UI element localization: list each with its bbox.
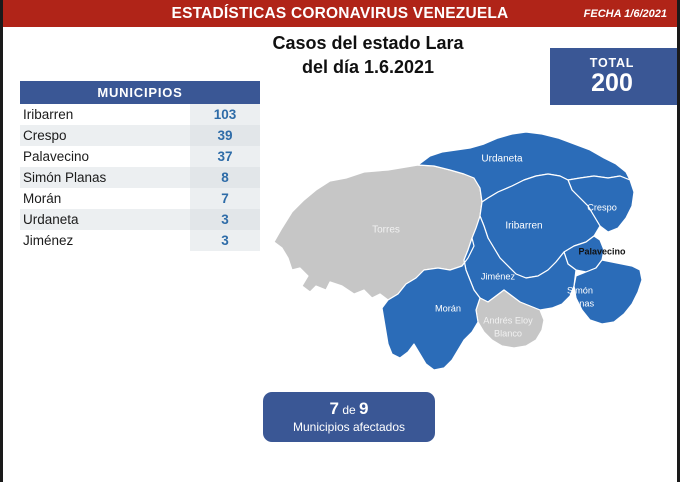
table-body: Iribarren103Crespo39Palavecino37Simón Pl… [20, 104, 260, 251]
affected-summary-box: 7 de 9 Municipios afectados [263, 392, 435, 442]
infographic-root: ESTADÍSTICAS CORONAVIRUS VENEZUELA FECHA… [0, 0, 680, 482]
municipio-case-count: 3 [190, 230, 260, 251]
municipio-case-count: 103 [190, 104, 260, 125]
municipio-name: Morán [20, 188, 190, 209]
total-municipios-count: 9 [359, 399, 368, 418]
affected-count: 7 [330, 399, 339, 418]
municipio-name: Simón Planas [20, 167, 190, 188]
municipios-table: MUNICIPIOS Iribarren103Crespo39Palavecin… [20, 81, 260, 251]
affected-summary-caption: Municipios afectados [293, 421, 405, 434]
municipio-name: Crespo [20, 125, 190, 146]
table-row[interactable]: Crespo39 [20, 125, 260, 146]
municipio-case-count: 8 [190, 167, 260, 188]
municipio-name: Jiménez [20, 230, 190, 251]
top-banner: ESTADÍSTICAS CORONAVIRUS VENEZUELA FECHA… [3, 0, 677, 27]
table-row[interactable]: Urdaneta3 [20, 209, 260, 230]
total-box: TOTAL 200 [550, 48, 680, 105]
page-title: Casos del estado Lara del día 1.6.2021 [203, 32, 533, 80]
municipio-name: Iribarren [20, 104, 190, 125]
banner-title: ESTADÍSTICAS CORONAVIRUS VENEZUELA [172, 5, 509, 23]
municipio-name: Palavecino [20, 146, 190, 167]
page-title-line1: Casos del estado Lara [203, 32, 533, 56]
municipio-case-count: 37 [190, 146, 260, 167]
affected-summary-counts: 7 de 9 [330, 400, 369, 419]
table-row[interactable]: Palavecino37 [20, 146, 260, 167]
table-row[interactable]: Morán7 [20, 188, 260, 209]
municipio-name: Urdaneta [20, 209, 190, 230]
banner-date: FECHA 1/6/2021 [584, 8, 667, 20]
municipio-case-count: 39 [190, 125, 260, 146]
lara-state-map: Torres Urdaneta Iribarren Crespo Palavec… [268, 118, 678, 373]
total-value: 200 [591, 71, 633, 96]
municipio-case-count: 7 [190, 188, 260, 209]
table-row[interactable]: Iribarren103 [20, 104, 260, 125]
table-header-label: MUNICIPIOS [21, 82, 259, 103]
page-title-line2: del día 1.6.2021 [203, 56, 533, 80]
affected-connector: de [342, 403, 355, 417]
table-header-cell: MUNICIPIOS [20, 81, 260, 104]
map-svg: Torres Urdaneta Iribarren Crespo Palavec… [268, 118, 678, 373]
total-label: TOTAL [590, 57, 635, 70]
table-row[interactable]: Jiménez3 [20, 230, 260, 251]
table-row[interactable]: Simón Planas8 [20, 167, 260, 188]
municipio-case-count: 3 [190, 209, 260, 230]
table-header-row: MUNICIPIOS [20, 81, 260, 104]
